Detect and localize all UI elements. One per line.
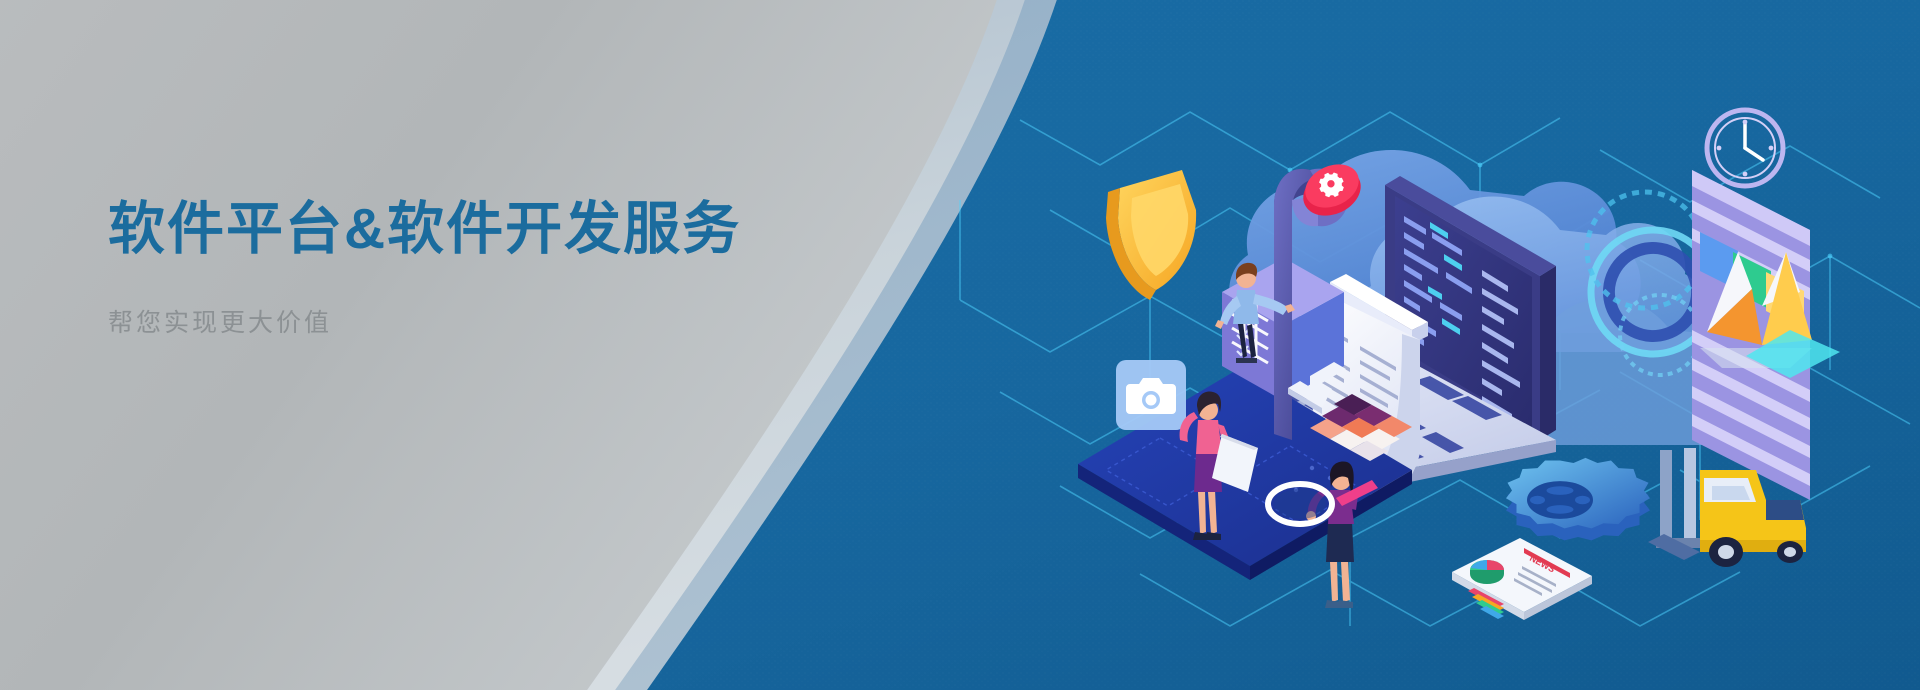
security-shield-icon	[1106, 170, 1196, 300]
hero-banner: NEWS 软件平台&软件开发服务 帮您实现更大价值	[0, 0, 1920, 690]
hero-text-block: 软件平台&软件开发服务 帮您实现更大价值	[108, 196, 868, 339]
page-title: 软件平台&软件开发服务	[108, 196, 868, 263]
isometric-illustration: NEWS	[0, 0, 1920, 690]
clock-icon	[1707, 110, 1783, 186]
news-report-document: NEWS	[1452, 538, 1592, 620]
pie-chart-icon	[1470, 560, 1504, 584]
page-subtitle: 帮您实现更大价值	[108, 303, 868, 339]
cog-wheel-icon	[1506, 458, 1650, 541]
